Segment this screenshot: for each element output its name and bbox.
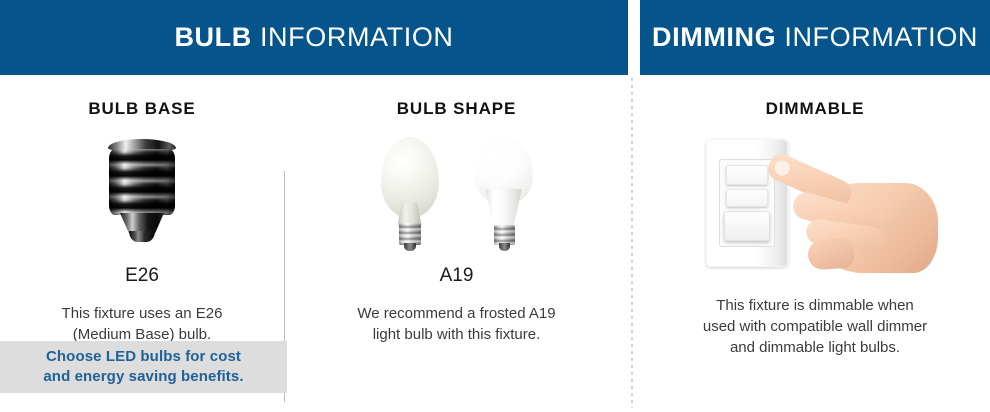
e26-threads <box>109 149 175 215</box>
bulb-base-spec-value: E26 <box>0 265 284 287</box>
section-dimmable: DIMMABLE <box>640 75 990 358</box>
bulb-information-header: BULB INFORMATION <box>0 0 628 75</box>
dimming-information-panel: DIMMABLE <box>640 75 990 412</box>
bulb-base-section-title: BULB BASE <box>0 99 284 119</box>
bulb-shape-description-line-2: light bulb with this fixture. <box>307 324 606 345</box>
bulb-information-title-strong: BULB <box>174 22 251 52</box>
dimmable-description-line-1: This fixture is dimmable when <box>662 295 968 316</box>
panel-dotted-divider <box>631 78 633 408</box>
dimmable-description-line-2: used with compatible wall dimmer <box>662 316 968 337</box>
dimming-information-title-strong: DIMMING <box>652 22 776 52</box>
hand-index-fingernail <box>772 158 792 178</box>
dimmable-description-line-3: and dimmable light bulbs. <box>662 337 968 358</box>
section-bulb-shape: BULB SHAPE A <box>285 75 628 345</box>
hand-thumb <box>807 237 855 270</box>
dimmable-section-title: DIMMABLE <box>640 99 990 119</box>
led-callout-line-2: and energy saving benefits. <box>43 367 243 387</box>
dimming-information-header: DIMMING INFORMATION <box>640 0 990 75</box>
led-screw-base <box>494 225 515 245</box>
bulb-shape-description-line-1: We recommend a frosted A19 <box>307 303 606 324</box>
led-bulb-icon <box>473 137 535 253</box>
section-bulb-base: BULB BASE E26 This fixture uses an E26 (… <box>0 75 284 345</box>
led-callout-line-1: Choose LED bulbs for cost <box>46 347 241 367</box>
bulb-base-description: This fixture uses an E26 (Medium Base) b… <box>0 303 284 345</box>
bulb-shape-description: We recommend a frosted A19 light bulb wi… <box>285 303 628 345</box>
led-body <box>482 189 526 227</box>
incandescent-tip <box>404 243 416 251</box>
bulb-information-panel: BULB BASE E26 This fixture uses an E26 (… <box>0 75 628 412</box>
bulb-shape-spec-value: A19 <box>285 265 628 287</box>
wall-dimmer-switch-with-hand-icon <box>690 133 940 273</box>
bulb-shape-figure <box>285 133 628 253</box>
bulb-and-dimming-information-graphic: BULB INFORMATION DIMMING INFORMATION BUL… <box>0 0 990 412</box>
e26-tip <box>129 231 155 242</box>
bulb-information-title: BULB INFORMATION <box>174 22 453 53</box>
a19-bulbs-icon <box>285 133 628 253</box>
dimmable-figure <box>640 133 990 253</box>
e26-taper <box>120 213 164 233</box>
led-tip <box>499 243 510 251</box>
e26-screw-base-icon <box>106 139 178 243</box>
pointing-hand-icon <box>762 161 938 273</box>
bulb-base-description-line-1: This fixture uses an E26 <box>22 303 262 324</box>
dimming-information-title: DIMMING INFORMATION <box>652 22 978 53</box>
incandescent-screw-base <box>399 223 421 245</box>
dimmable-description: This fixture is dimmable when used with … <box>640 295 990 358</box>
led-savings-callout: Choose LED bulbs for cost and energy sav… <box>0 341 287 393</box>
bulb-base-figure <box>0 133 284 253</box>
bulb-shape-section-title: BULB SHAPE <box>285 99 628 119</box>
bulb-information-title-rest: INFORMATION <box>260 22 454 52</box>
frosted-incandescent-bulb-icon <box>379 137 441 253</box>
dimming-information-title-rest: INFORMATION <box>784 22 978 52</box>
